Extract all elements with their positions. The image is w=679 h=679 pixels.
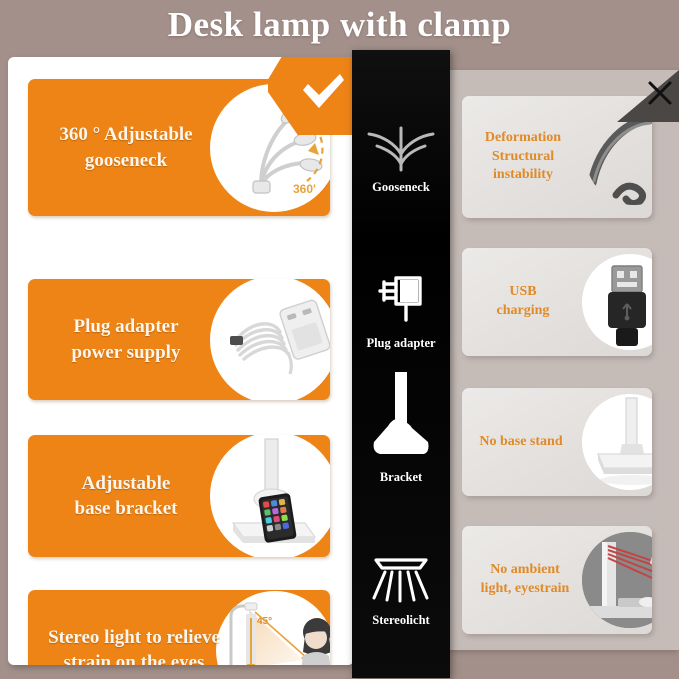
feature-item-stereolicht[interactable]: Stereolicht xyxy=(352,545,450,628)
con-card-label: Deformation Structural instability xyxy=(462,96,584,218)
con-card-label: USB charging xyxy=(462,248,584,356)
bent-gooseneck-photo-icon xyxy=(586,109,652,205)
bracket-icon xyxy=(368,372,434,464)
pro-card-plug-adapter[interactable]: Plug adapter power supply xyxy=(28,279,330,400)
feature-item-label: Bracket xyxy=(380,470,422,485)
feature-item-label: Plug adapter xyxy=(366,336,435,351)
con-card-label: No ambient light, eyestrain xyxy=(462,526,588,634)
pro-card-base-bracket[interactable]: Adjustable base bracket xyxy=(28,435,330,557)
pro-card-gooseneck[interactable]: 360 ° Adjustable gooseneck 36 xyxy=(28,79,330,216)
gooseneck-icon xyxy=(365,112,437,174)
feature-item-bracket[interactable]: Bracket xyxy=(352,372,450,485)
pro-card-label: 360 ° Adjustable gooseneck xyxy=(28,79,224,216)
con-card-no-ambient-light[interactable]: No ambient light, eyestrain xyxy=(462,526,652,634)
feature-item-gooseneck[interactable]: Gooseneck xyxy=(352,112,450,195)
stereo-light-icon xyxy=(366,545,436,607)
cons-panel: Deformation Structural instability USB c… xyxy=(450,70,679,650)
pro-card-stereo-light[interactable]: Stereo light to relieve strain on the ey… xyxy=(28,590,330,665)
con-card-no-base-stand[interactable]: No base stand xyxy=(462,388,652,496)
pro-card-label: Adjustable base bracket xyxy=(28,435,224,557)
con-card-label: No base stand xyxy=(462,388,580,496)
page-title: Desk lamp with clamp xyxy=(0,0,679,50)
feature-item-label: Stereolicht xyxy=(372,613,429,628)
gooseneck-photo-icon: 360' xyxy=(210,84,330,212)
feature-column: Gooseneck Plug adapter xyxy=(352,50,450,678)
pro-card-label: Stereo light to relieve strain on the ey… xyxy=(28,590,240,665)
feature-item-label: Gooseneck xyxy=(372,180,430,195)
pro-card-label: Plug adapter power supply xyxy=(28,279,224,400)
svg-text:360': 360' xyxy=(293,182,316,196)
no-base-stand-photo-icon xyxy=(582,394,652,490)
con-card-usb-charging[interactable]: USB charging xyxy=(462,248,652,356)
plug-adapter-photo-icon xyxy=(210,279,330,400)
pros-panel: 360 ° Adjustable gooseneck 36 xyxy=(8,57,354,665)
base-bracket-photo-icon xyxy=(210,435,330,557)
eyestrain-photo-icon xyxy=(582,532,652,628)
con-card-deformation[interactable]: Deformation Structural instability xyxy=(462,96,652,218)
feature-item-plug-adapter[interactable]: Plug adapter xyxy=(352,268,450,351)
usb-cable-photo-icon xyxy=(582,254,652,350)
plug-icon xyxy=(370,268,432,330)
